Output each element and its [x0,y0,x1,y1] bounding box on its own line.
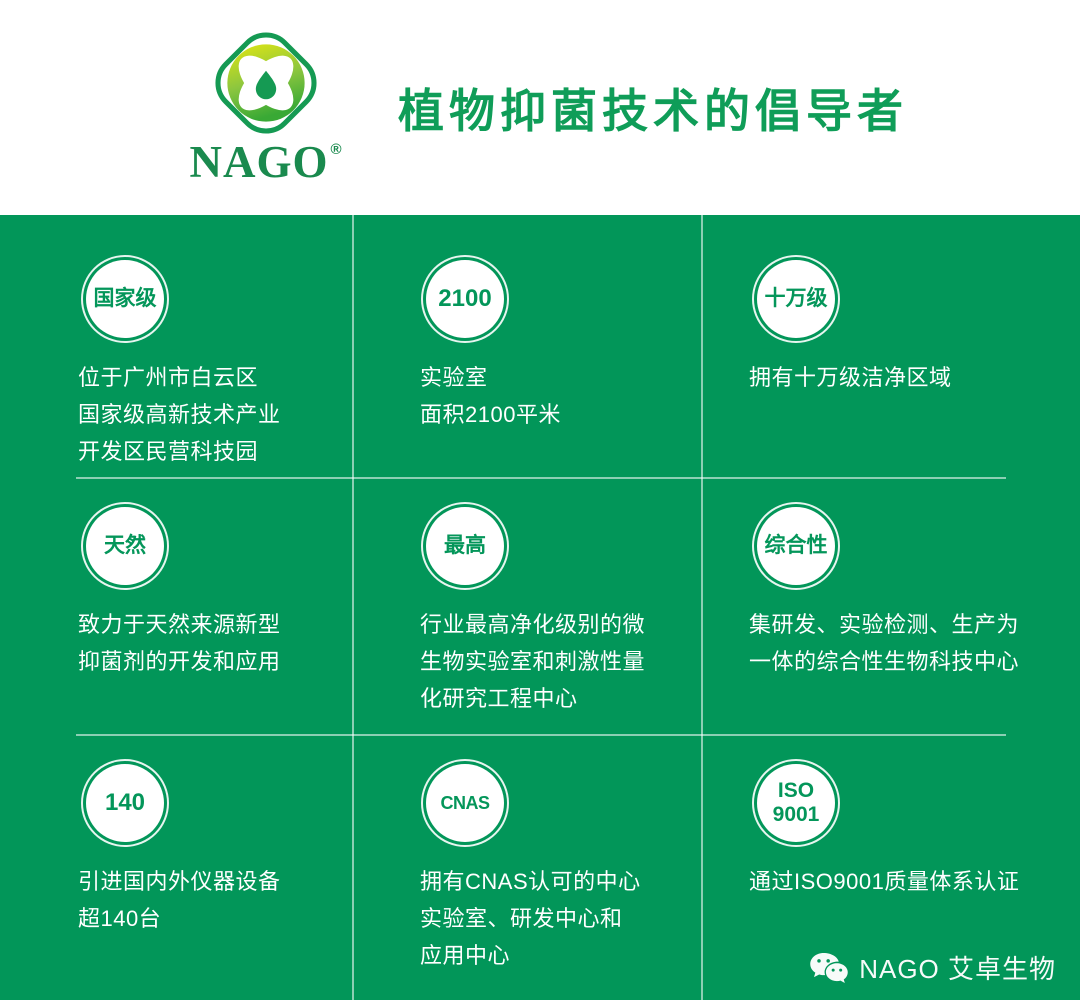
highlight-description-1: 位于广州市白云区 国家级高新技术产业 开发区民营科技园 [78,360,281,471]
highlight-cell-7: 140 引进国内外仪器设备 超140台 [0,734,352,1000]
highlight-cell-5: 最高 行业最高净化级别的微 生物实验室和刺激性量 化研究工程中心 [352,477,701,734]
highlight-badge-label-5: 最高 [444,535,486,557]
highlight-badge-label-9: ISO 9001 [773,779,820,826]
highlight-description-6: 集研发、实验检测、生产为 一体的综合性生物科技中心 [749,607,1019,681]
highlight-badge-2: 2100 [426,260,504,338]
highlight-badge-label-4: 天然 [104,535,146,557]
highlight-cell-3: 十万级 拥有十万级洁净区域 [701,215,1080,477]
brand-wordmark-text: NAGO [189,140,328,185]
highlight-badge-5: 最高 [426,507,504,585]
highlight-description-8: 拥有CNAS认可的中心 实验室、研发中心和 应用中心 [420,864,641,975]
wechat-icon [809,951,849,985]
highlight-badge-9: ISO 9001 [757,764,835,842]
highlight-cell-6: 综合性 集研发、实验检测、生产为 一体的综合性生物科技中心 [701,477,1080,734]
highlight-badge-7: 140 [86,764,164,842]
highlights-grid: 国家级 位于广州市白云区 国家级高新技术产业 开发区民营科技园 2100 实验室… [0,215,1080,1000]
highlight-badge-label-1: 国家级 [94,288,157,310]
highlight-description-4: 致力于天然来源新型 抑菌剂的开发和应用 [78,607,281,681]
brand-wordmark: NAGO ® [189,140,342,185]
highlights-panel: 国家级 位于广州市白云区 国家级高新技术产业 开发区民营科技园 2100 实验室… [0,215,1080,1000]
highlight-description-3: 拥有十万级洁净区域 [749,360,952,397]
highlight-badge-label-8: CNAS [440,794,489,813]
highlight-badge-3: 十万级 [757,260,835,338]
highlight-cell-1: 国家级 位于广州市白云区 国家级高新技术产业 开发区民营科技园 [0,215,352,477]
brand-logo: NAGO ® [178,22,354,194]
highlight-badge-8: CNAS [426,764,504,842]
poster-page: NAGO ® 植物抑菌技术的倡导者 国家级 位于广州市白云区 国家级高新技术产业… [0,0,1080,1000]
highlight-cell-4: 天然 致力于天然来源新型 抑菌剂的开发和应用 [0,477,352,734]
nago-flower-logo-icon [205,22,327,144]
wechat-account-watermark: NAGO 艾卓生物 [809,949,1056,986]
highlight-badge-6: 综合性 [757,507,835,585]
highlight-badge-4: 天然 [86,507,164,585]
registered-mark-icon: ® [330,142,342,157]
highlight-description-5: 行业最高净化级别的微 生物实验室和刺激性量 化研究工程中心 [420,607,645,718]
highlight-badge-label-6: 综合性 [765,535,828,557]
page-title: 植物抑菌技术的倡导者 [398,86,908,137]
highlight-description-7: 引进国内外仪器设备 超140台 [78,864,281,938]
header-banner: NAGO ® 植物抑菌技术的倡导者 [0,0,1080,215]
highlight-cell-8: CNAS 拥有CNAS认可的中心 实验室、研发中心和 应用中心 [352,734,701,1000]
highlight-cell-2: 2100 实验室 面积2100平米 [352,215,701,477]
highlight-description-2: 实验室 面积2100平米 [420,360,561,434]
highlight-badge-label-7: 140 [105,790,145,815]
wechat-account-name: NAGO 艾卓生物 [859,949,1056,986]
highlight-description-9: 通过ISO9001质量体系认证 [749,864,1019,901]
highlight-badge-label-2: 2100 [438,286,491,311]
highlight-badge-label-3: 十万级 [765,288,828,310]
highlight-badge-1: 国家级 [86,260,164,338]
